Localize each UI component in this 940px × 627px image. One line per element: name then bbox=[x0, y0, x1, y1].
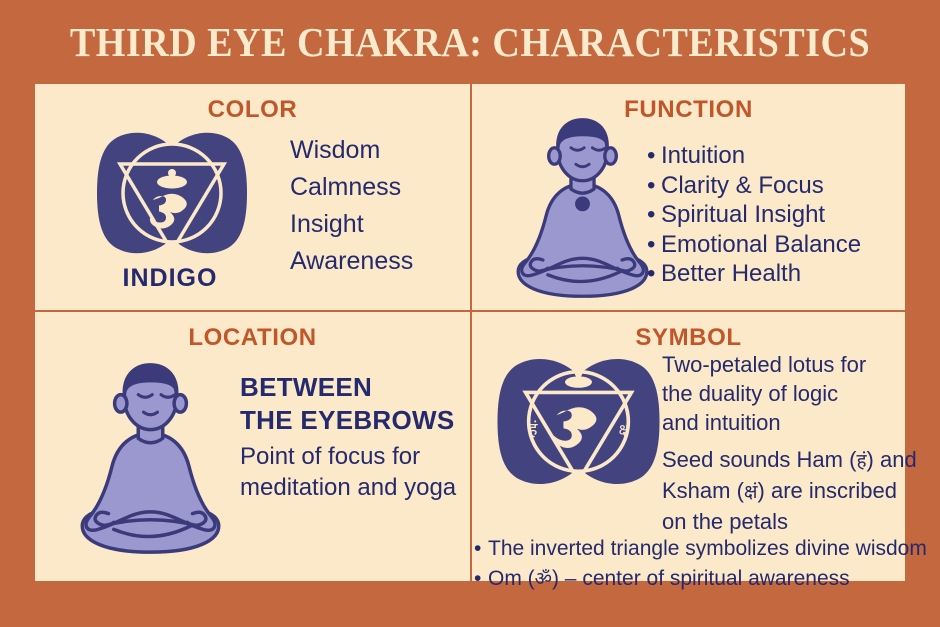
content-panel: COLOR INDIGO Wisdom Calmness bbox=[35, 84, 905, 581]
location-subtitle-line2: meditation and yoga bbox=[240, 472, 456, 503]
list-item: •The inverted triangle symbolizes divine… bbox=[474, 534, 927, 564]
ksham-glyph: क्षं bbox=[744, 481, 758, 503]
chakra-symbol-icon bbox=[97, 128, 247, 258]
quadrant-symbol: SYMBOL हं क्षं Two-petaled lotus bbox=[472, 312, 905, 581]
symbol-p2-line1: Seed sounds Ham (हं) and bbox=[662, 445, 917, 476]
symbol-p1-line3: and intuition bbox=[662, 408, 866, 437]
om-glyph: ॐ bbox=[535, 568, 552, 590]
list-item-label: Intuition bbox=[661, 142, 745, 169]
location-subtitle: Point of focus for meditation and yoga bbox=[240, 441, 456, 503]
quadrant-location-heading: LOCATION bbox=[35, 324, 470, 352]
list-item: •Spiritual Insight bbox=[647, 200, 861, 230]
list-item: •Emotional Balance bbox=[647, 230, 861, 260]
symbol-p2-line2-prefix: Ksham ( bbox=[662, 478, 744, 503]
symbol-p2-line2: Ksham (क्षं) are inscribed bbox=[662, 476, 917, 507]
bullet-mark: • bbox=[647, 259, 661, 289]
symbol-paragraph-2: Seed sounds Ham (हं) and Ksham (क्षं) ar… bbox=[662, 445, 917, 536]
list-item-label: Clarity & Focus bbox=[661, 172, 824, 199]
quadrant-function: FUNCTION bbox=[472, 84, 905, 310]
indigo-label: INDIGO bbox=[35, 264, 305, 293]
list-item-label: The inverted triangle symbolizes divine … bbox=[488, 537, 927, 560]
chakra-dot bbox=[575, 196, 590, 211]
color-word: Calmness bbox=[290, 169, 413, 206]
symbol-p1-line2: the duality of logic bbox=[662, 379, 866, 408]
color-word-list: Wisdom Calmness Insight Awareness bbox=[290, 132, 413, 280]
quadrant-color-heading: COLOR bbox=[35, 96, 470, 124]
location-title-line2: THE EYEBROWS bbox=[240, 404, 455, 437]
bullet-mark: • bbox=[474, 564, 488, 594]
symbol-paragraph-1: Two-petaled lotus for the duality of log… bbox=[662, 350, 866, 437]
list-item-label: Emotional Balance bbox=[661, 231, 861, 258]
page-title: THIRD EYE CHAKRA: CHARACTERISTICS bbox=[33, 18, 907, 66]
symbol-p2-line3: on the petals bbox=[662, 507, 917, 536]
color-word: Insight bbox=[290, 206, 413, 243]
list-item-label-suffix: ) – center of spiritual awareness bbox=[552, 567, 850, 590]
list-item: •Om (ॐ) – center of spiritual awareness bbox=[474, 564, 927, 594]
bullet-mark: • bbox=[647, 230, 661, 260]
symbol-p2-line1-suffix: ) and bbox=[867, 447, 917, 472]
ham-glyph: हं bbox=[856, 450, 866, 472]
bullet-mark: • bbox=[647, 171, 661, 201]
meditating-figure-icon bbox=[500, 112, 665, 304]
symbol-p2-line1-prefix: Seed sounds Ham ( bbox=[662, 447, 856, 472]
bullet-mark: • bbox=[474, 534, 488, 564]
meditating-figure-icon bbox=[63, 356, 238, 561]
color-word: Wisdom bbox=[290, 132, 413, 169]
seed-sound-ksham-glyph: क्षं bbox=[619, 421, 631, 439]
symbol-p2-line2-suffix: ) are inscribed bbox=[758, 478, 897, 503]
symbol-p1-line1: Two-petaled lotus for bbox=[662, 350, 866, 379]
infographic-poster: THIRD EYE CHAKRA: CHARACTERISTICS COLOR bbox=[0, 0, 940, 627]
list-item-label: Spiritual Insight bbox=[661, 201, 825, 228]
location-subtitle-line1: Point of focus for bbox=[240, 441, 456, 472]
list-item: •Clarity & Focus bbox=[647, 171, 861, 201]
quadrant-color: COLOR INDIGO Wisdom Calmness bbox=[35, 84, 470, 310]
function-bullet-list: •Intuition •Clarity & Focus •Spiritual I… bbox=[647, 141, 861, 289]
list-item-label: Better Health bbox=[661, 260, 801, 287]
seed-sound-ham-glyph: हं bbox=[528, 420, 538, 440]
list-item: •Intuition bbox=[647, 141, 861, 171]
quadrant-symbol-heading: SYMBOL bbox=[472, 324, 905, 352]
color-word: Awareness bbox=[290, 243, 413, 280]
bullet-mark: • bbox=[647, 141, 661, 171]
chakra-symbol-with-seed-sounds-icon: हं क्षं bbox=[486, 354, 671, 489]
list-item-label-prefix: Om ( bbox=[488, 567, 535, 590]
list-item: •Better Health bbox=[647, 259, 861, 289]
location-title: BETWEEN THE EYEBROWS bbox=[240, 371, 455, 437]
symbol-bullet-list: •The inverted triangle symbolizes divine… bbox=[474, 534, 927, 594]
bullet-mark: • bbox=[647, 200, 661, 230]
location-title-line1: BETWEEN bbox=[240, 371, 455, 404]
quadrant-location: LOCATION bbox=[35, 312, 470, 581]
